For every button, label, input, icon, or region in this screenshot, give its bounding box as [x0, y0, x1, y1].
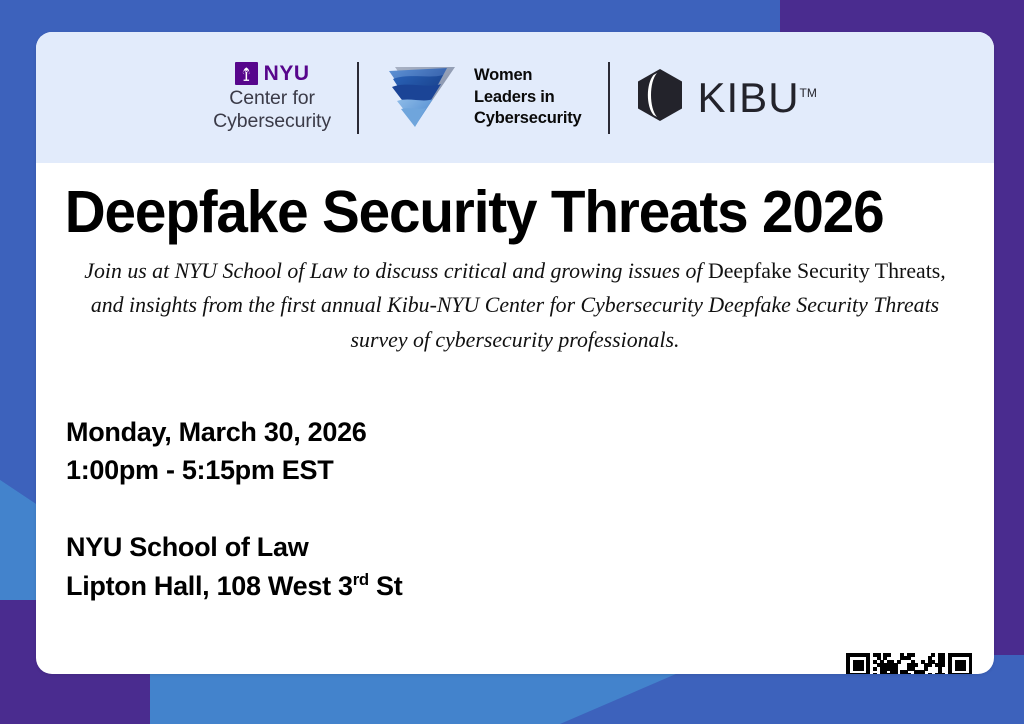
nyu-subtitle-line2: Cybersecurity — [213, 110, 331, 133]
description-highlight: Deepfake Security Threats — [708, 258, 940, 283]
venue-name: NYU School of Law — [66, 528, 994, 566]
nyu-logo: NYU Center for Cybersecurity — [187, 62, 357, 134]
women-leaders-logo: Women Leaders in Cybersecurity — [359, 59, 607, 136]
nyu-subtitle-line1: Center for — [229, 87, 315, 110]
rsvp-qr-code[interactable]: bitly — [846, 653, 972, 674]
women-leaders-line1: Women — [474, 65, 581, 87]
women-leaders-line2: Leaders in — [474, 87, 581, 109]
flyer-content: Deepfake Security Threats 2026 Join us a… — [36, 163, 994, 605]
venue-address-ordinal: rd — [353, 570, 369, 589]
venue-address-suffix: St — [369, 571, 403, 601]
venue-address: Lipton Hall, 108 West 3rd St — [66, 567, 994, 605]
nyu-torch-icon — [235, 62, 258, 85]
event-datetime-block: Monday, March 30, 2026 1:00pm - 5:15pm E… — [36, 413, 994, 490]
inverted-triangle-wave-icon — [385, 59, 461, 136]
event-flyer: NYU Center for Cybersecurity — [0, 0, 1024, 724]
event-time: 1:00pm - 5:15pm EST — [66, 451, 994, 489]
sponsor-logo-band: NYU Center for Cybersecurity — [36, 32, 994, 163]
event-date: Monday, March 30, 2026 — [66, 413, 994, 451]
flyer-card: NYU Center for Cybersecurity — [36, 32, 994, 674]
nyu-wordmark: NYU — [264, 62, 310, 87]
women-leaders-line3: Cybersecurity — [474, 108, 581, 130]
event-venue-block: NYU School of Law Lipton Hall, 108 West … — [36, 528, 994, 605]
event-description: Join us at NYU School of Law to discuss … — [79, 254, 952, 357]
kibu-trademark: TM — [800, 86, 817, 100]
event-title: Deepfake Security Threats 2026 — [36, 182, 956, 242]
venue-address-prefix: Lipton Hall, 108 West 3 — [66, 571, 353, 601]
kibu-wordmark: KIBUTM — [698, 74, 817, 122]
kibu-logo: KIBUTM — [610, 68, 843, 127]
hexagon-icon — [636, 68, 684, 127]
qr-code-canvas[interactable] — [846, 653, 972, 674]
description-part-1: Join us at NYU School of Law to discuss … — [84, 258, 708, 283]
